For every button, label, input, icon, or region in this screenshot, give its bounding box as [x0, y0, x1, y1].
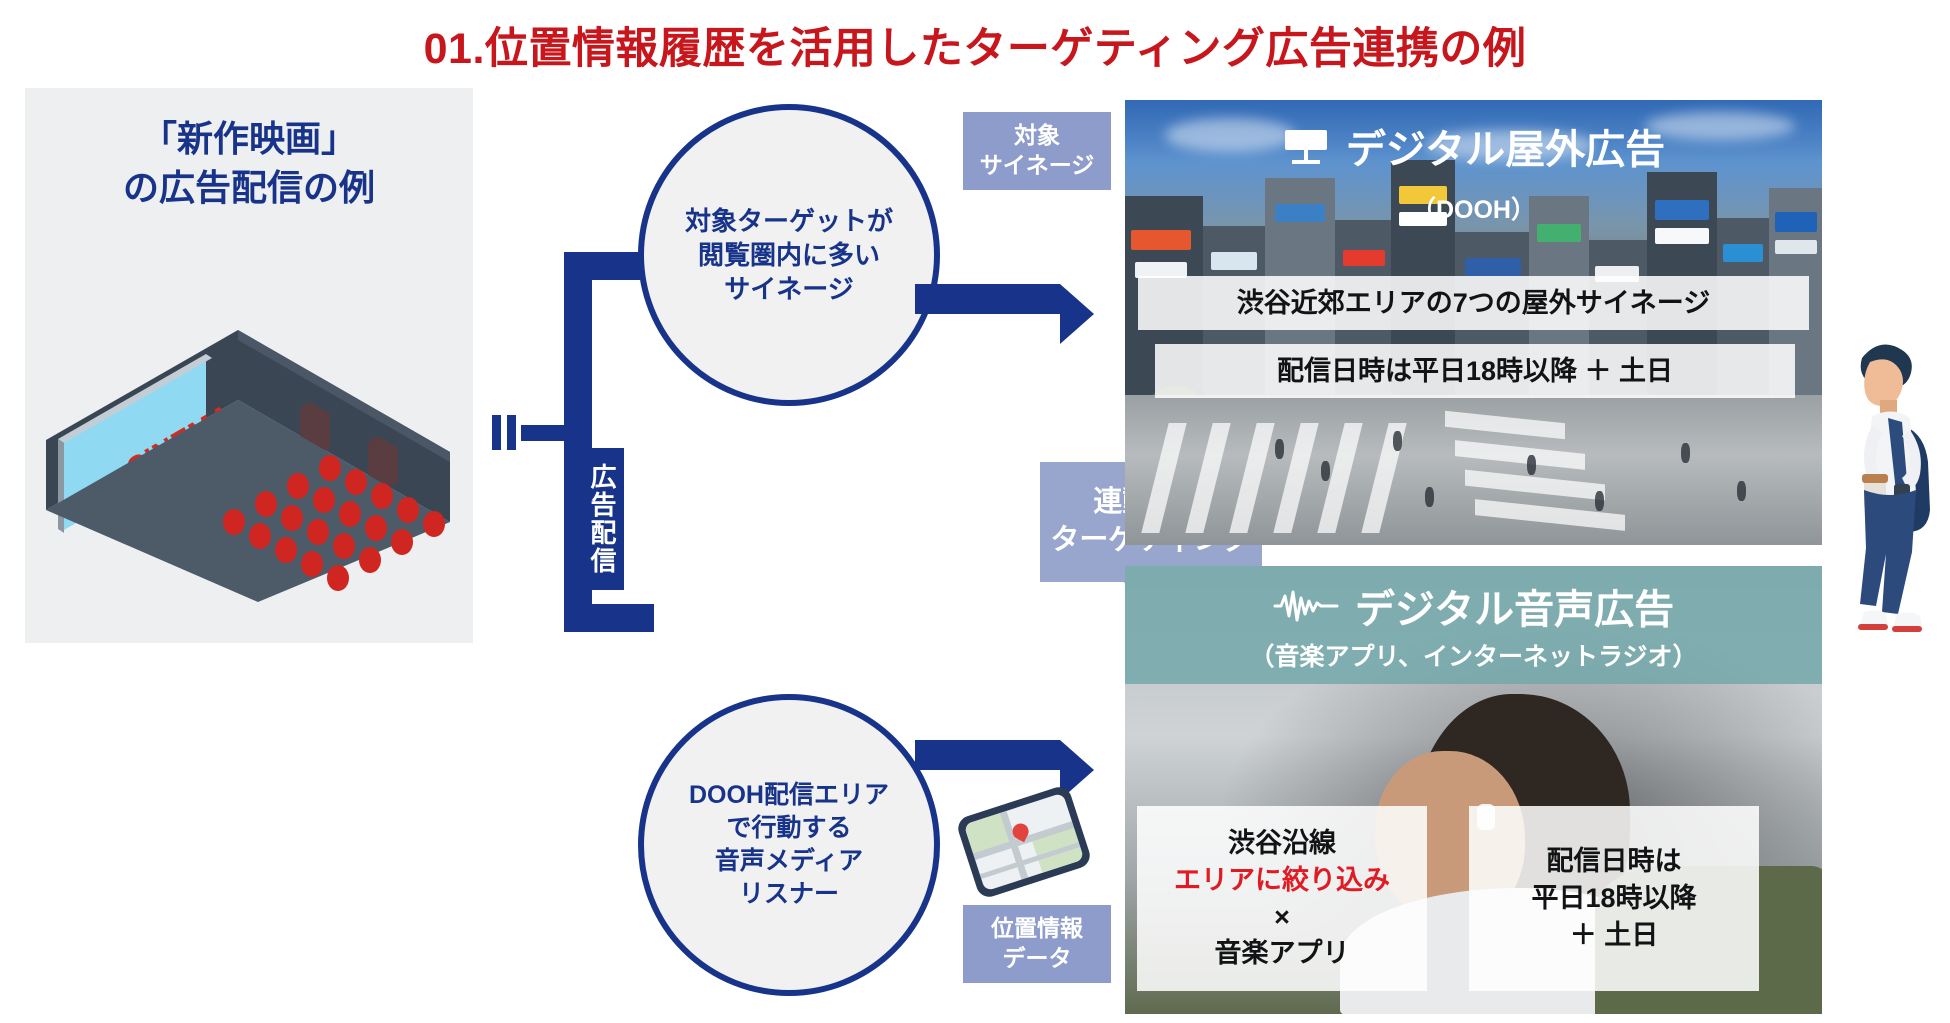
circle-top-line1: 対象ターゲットが — [685, 204, 893, 238]
badge-geolocation-data: 位置情報 データ — [963, 905, 1111, 983]
badge-signage-line2: サイネージ — [980, 151, 1095, 181]
left-heading-line1: 「新作映画」 — [25, 115, 473, 164]
badge-geodata-line1: 位置情報 — [991, 914, 1083, 944]
arrow-to-audio-bar — [915, 740, 1060, 770]
audio-waveform-icon — [1273, 589, 1339, 623]
circle-top-line3: サイネージ — [685, 272, 893, 306]
circle-dooh-audio-listener[interactable]: DOOH配信エリア で行動する 音声メディア リスナー — [638, 694, 940, 996]
circle-bottom-line4: リスナー — [689, 878, 889, 911]
badge-signage-line1: 対象 — [980, 121, 1095, 151]
dooh-info-1: 渋谷近郊エリアの7つの屋外サイネージ — [1138, 276, 1809, 330]
audio-info-left-line3: × — [1174, 899, 1390, 936]
dooh-panel-title: デジタル屋外広告 — [1346, 117, 1665, 175]
phone-screen — [964, 793, 1085, 892]
circle-bottom-line3: 音声メディア — [689, 845, 889, 878]
circle-target-signage[interactable]: 対象ターゲットが 閲覧圏内に多い サイネージ — [638, 104, 940, 406]
left-heading-line2: の広告配信の例 — [25, 164, 473, 213]
page-title: 01.位置情報履歴を活用したターゲティング広告連携の例 — [0, 14, 1950, 76]
left-panel-heading: 「新作映画」 の広告配信の例 — [25, 115, 473, 212]
delivery-label: 広告配信 — [578, 448, 624, 590]
dooh-panel-header: デジタル屋外広告 — [1125, 100, 1822, 192]
dooh-panel-subtitle: （DOOH） — [1125, 190, 1822, 226]
audio-info-right-line2: 平日18時以降 — [1531, 880, 1696, 917]
circle-bottom-line1: DOOH配信エリア — [689, 779, 889, 812]
audio-panel-header: デジタル音声広告 （音楽アプリ、インターネットラジオ） — [1125, 566, 1822, 684]
audio-info-right: 配信日時は 平日18時以降 ＋ 土日 — [1469, 806, 1759, 991]
flow-tick-2 — [507, 415, 516, 450]
cinema-illustration: CINEMA — [38, 290, 458, 610]
audio-info-left: 渋谷沿線 エリアに絞り込み × 音楽アプリ — [1137, 806, 1427, 991]
circle-bottom-line2: で行動する — [689, 812, 889, 845]
flow-stub-horizontal — [521, 425, 567, 441]
arrow-to-dooh-head — [1060, 284, 1094, 344]
audio-panel-title: デジタル音声広告 — [1355, 577, 1674, 635]
dooh-info-2: 配信日時は平日18時以降 ＋ 土日 — [1155, 344, 1795, 398]
panel-dooh: デジタル屋外広告 （DOOH） 渋谷近郊エリアの7つの屋外サイネージ 配信日時は… — [1125, 100, 1822, 545]
audio-info-left-highlight: エリアに絞り込み — [1174, 862, 1390, 899]
badge-target-signage: 対象 サイネージ — [963, 112, 1111, 190]
smartphone-map-icon — [955, 784, 1093, 900]
badge-geodata-line2: データ — [991, 944, 1083, 974]
crossing-area — [1125, 395, 1822, 545]
billboard-icon — [1282, 126, 1330, 166]
arrow-to-dooh-bar — [915, 284, 1060, 314]
flow-tick-1 — [492, 415, 501, 450]
circle-top-line2: 閲覧圏内に多い — [685, 238, 893, 272]
panel-audio: デジタル音声広告 （音楽アプリ、インターネットラジオ） 渋谷沿線 エリアに絞り込… — [1125, 566, 1822, 1014]
audio-panel-subtitle: （音楽アプリ、インターネットラジオ） — [1125, 637, 1822, 673]
audio-info-right-line3: ＋ 土日 — [1531, 917, 1696, 954]
walking-person-illustration — [1838, 330, 1946, 670]
audio-info-left-line1: 渋谷沿線 — [1174, 825, 1390, 862]
flow-branch-bottom — [564, 604, 654, 632]
audio-info-right-line1: 配信日時は — [1531, 843, 1696, 880]
audio-info-left-line4: 音楽アプリ — [1174, 935, 1390, 972]
delivery-label-text: 広告配信 — [586, 463, 616, 575]
slide-canvas: 01.位置情報履歴を活用したターゲティング広告連携の例 「新作映画」 の広告配信… — [0, 0, 1950, 1023]
